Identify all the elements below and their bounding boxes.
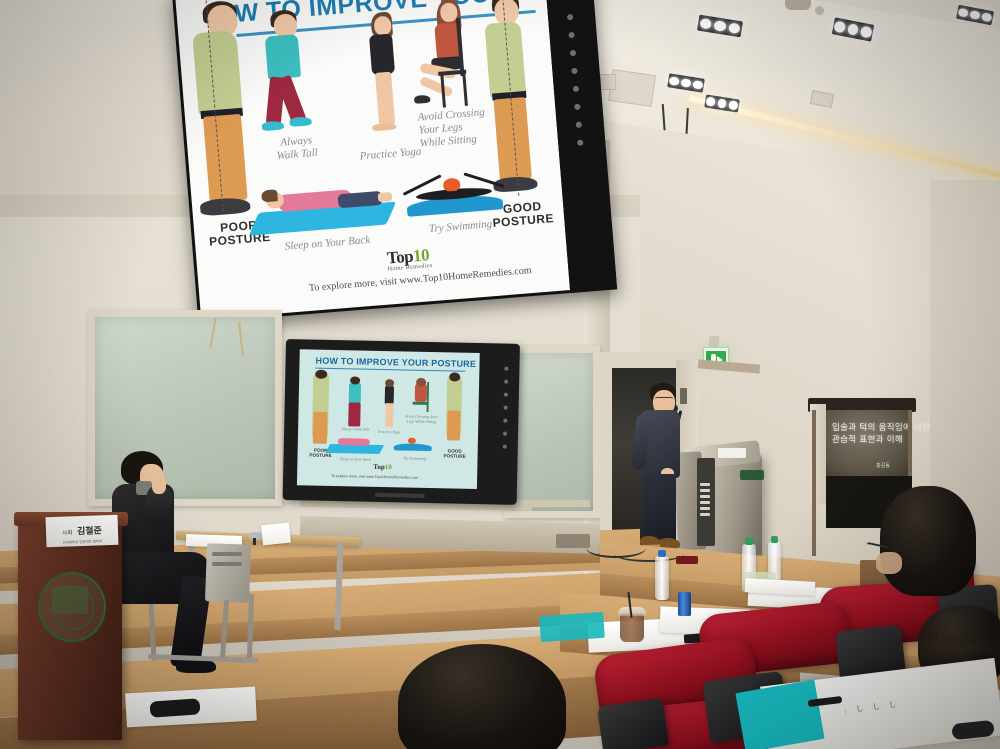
- main-projection-screen: W TO IMPROVE YOUR POSTURE POORPOSTURE: [172, 0, 617, 323]
- monitor-cap-sleep: Sleep on Your Back: [327, 456, 383, 462]
- monitor-good-label: GOOD POSTURE: [438, 448, 472, 459]
- presenter-glasses-icon: [655, 397, 673, 402]
- monitor-side-dots: [503, 358, 512, 458]
- monitor-slide-surface: HOW TO IMPROVE YOUR POSTURE POOR POSTURE…: [297, 349, 480, 489]
- smoke-detector-icon: [815, 6, 824, 15]
- tip-caption-walk: AlwaysWalk Tall: [259, 133, 335, 165]
- seat-armrest-4: [597, 698, 669, 749]
- side-screen-line2: 관습적 표현과 이해: [832, 433, 903, 445]
- main-slide-surface: W TO IMPROVE YOUR POSTURE POORPOSTURE: [175, 0, 570, 320]
- monitor-cap-yoga: Practice Yoga: [374, 429, 404, 435]
- tip-caption-yoga: Practice Yoga: [350, 145, 431, 164]
- portable-screen-surface: 입술과 턱의 움직임에 대한 관습적 표현과 이해 홍길동: [826, 410, 912, 476]
- moderator-hand-on-chin: [152, 476, 166, 494]
- exit-sign-mount: [709, 336, 719, 347]
- monitor-walk-figure: [349, 382, 361, 404]
- audience-ear-right: [876, 552, 902, 574]
- door-hinge-top: [680, 388, 687, 404]
- floor-red-cable-reel: [676, 556, 698, 564]
- floor-power-box: [556, 534, 590, 548]
- monitor-cap-crossing: Avoid Crossing Your Legs While Sitting: [402, 413, 440, 424]
- monitor-brand-logo: Top10: [373, 463, 392, 471]
- moderator-nameplate-right: [261, 523, 291, 546]
- monitor-footer-url: To explore more, visit www.Top10HomeReme…: [331, 474, 418, 480]
- chair-slot-2: [212, 562, 242, 566]
- teal-booklet[interactable]: [539, 612, 605, 642]
- chalkboard-left: [88, 310, 282, 506]
- podium-paper: [718, 448, 746, 458]
- audience-head-right: [880, 486, 976, 596]
- beverage-can[interactable]: [678, 592, 691, 616]
- moderator-nameplate: 사회 김철준 건국대학교 인문대학 철학과: [45, 515, 118, 547]
- portable-screen-stand-left: [812, 410, 816, 556]
- monitor-swim-figure: [394, 443, 432, 451]
- monitor-brand-strip: [375, 493, 425, 498]
- table-microphone-stem: [253, 538, 256, 545]
- nameplate-role: 사회: [62, 530, 72, 536]
- monitor-cap-walk: Always Walk Tall: [338, 426, 372, 432]
- podium-emblem: [740, 470, 764, 480]
- side-screen-presenter: 홍길동: [876, 462, 890, 469]
- seal-building-icon: [52, 586, 88, 614]
- presenter-trousers: [642, 474, 676, 540]
- ceiling-vent-2: [600, 74, 616, 90]
- nameplate-affiliation: 건국대학교 인문대학 철학과: [46, 538, 118, 546]
- nameplate-name: 김철준: [77, 526, 102, 537]
- monitor-slide-title: HOW TO IMPROVE YOUR POSTURE: [315, 356, 476, 369]
- screen-indicator-dots: [564, 2, 588, 158]
- side-screen-line1: 입술과 턱의 움직임에 대한: [832, 421, 930, 433]
- water-bottle-1[interactable]: [655, 556, 669, 600]
- chair-slot-1: [212, 552, 242, 556]
- tip-caption-swim: Try Swimming: [414, 217, 507, 237]
- lecture-hall-photo: W TO IMPROVE YOUR POSTURE POORPOSTURE: [0, 0, 1000, 749]
- monitor-cap-swim: Try Swimming: [393, 455, 435, 461]
- ceiling-speaker-flush: [785, 0, 811, 10]
- secondary-monitor: HOW TO IMPROVE YOUR POSTURE POOR POSTURE…: [283, 339, 520, 505]
- teal-folder[interactable]: [735, 680, 824, 749]
- brand-logo: Top10 Home Remedies: [386, 245, 433, 273]
- podium-control-buttons[interactable]: [700, 480, 712, 519]
- floor-cable-2: [614, 546, 684, 562]
- iced-coffee-cup[interactable]: [620, 614, 644, 642]
